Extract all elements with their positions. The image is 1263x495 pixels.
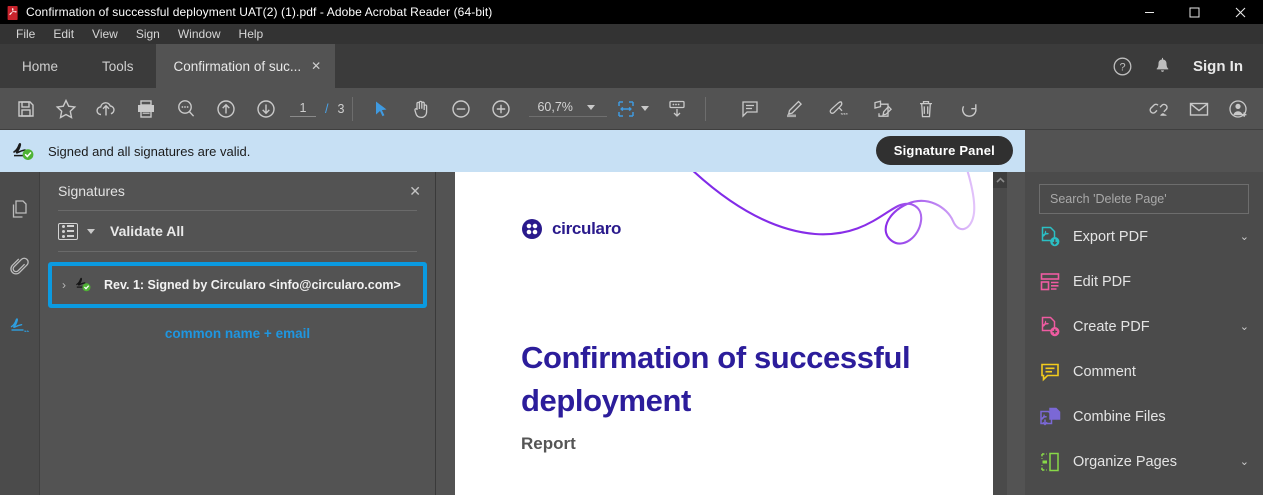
window-title: Confirmation of successful deployment UA… [26, 5, 492, 19]
tool-item-create-pdf[interactable]: Create PDF ⌄ [1039, 304, 1263, 349]
page-navigation: 1 / 3 [290, 101, 344, 117]
chevron-down-icon[interactable] [587, 105, 595, 110]
tool-item-edit-pdf[interactable]: Edit PDF [1039, 259, 1263, 304]
rotate-icon[interactable] [950, 88, 990, 130]
upload-cloud-icon[interactable] [86, 88, 126, 130]
signature-entry-row[interactable]: › Rev. 1: Signed by Circularo <info@circ… [48, 262, 427, 308]
tab-bar: Home Tools Confirmation of suc... ✕ ? Si… [0, 44, 1263, 88]
toolbar: 1 / 3 60,7% [0, 88, 1263, 130]
page-separator: / [325, 102, 328, 116]
close-button[interactable] [1217, 0, 1263, 24]
combine-files-icon [1039, 406, 1061, 428]
expand-chevron-icon[interactable]: › [62, 278, 66, 292]
pdf-page: circularo Confirmation of successful dep… [455, 172, 1002, 495]
chevron-down-icon[interactable]: ⌄ [1240, 320, 1249, 333]
close-icon[interactable]: ✕ [311, 60, 321, 72]
circularo-logo: circularo [521, 218, 621, 240]
tool-item-compress-pdf[interactable]: Compress PDF [1039, 484, 1263, 495]
signature-panel-button[interactable]: Signature Panel [876, 136, 1013, 165]
zoom-level-value: 60,7% [537, 100, 572, 114]
tool-item-comment[interactable]: Comment [1039, 349, 1263, 394]
menu-edit[interactable]: Edit [44, 24, 83, 44]
circularo-wordmark: circularo [552, 219, 621, 239]
chevron-down-icon[interactable]: ⌄ [1240, 455, 1249, 468]
print-icon[interactable] [126, 88, 166, 130]
chevron-down-icon[interactable] [87, 229, 95, 234]
email-icon[interactable] [1179, 88, 1219, 130]
zoom-out-icon[interactable] [441, 88, 481, 130]
title-bar: Confirmation of successful deployment UA… [0, 0, 1263, 24]
edit-pdf-icon [1039, 271, 1061, 293]
close-icon[interactable]: ✕ [409, 183, 421, 200]
tool-label: Combine Files [1073, 409, 1237, 425]
page-number-input[interactable]: 1 [290, 101, 316, 117]
tab-document-label: Confirmation of suc... [174, 59, 302, 74]
highlight-icon[interactable] [774, 88, 814, 130]
circularo-mark-icon [521, 218, 543, 240]
validate-all-label: Validate All [110, 223, 184, 239]
signature-entry-label: Rev. 1: Signed by Circularo <info@circul… [104, 278, 401, 292]
zoom-in-icon[interactable] [481, 88, 521, 130]
menu-bar: File Edit View Sign Window Help [0, 24, 1263, 44]
comment-icon [1039, 361, 1061, 383]
minimize-button[interactable] [1127, 0, 1172, 24]
banner-right-filler [1025, 130, 1263, 172]
trash-icon[interactable] [906, 88, 946, 130]
signatures-panel-header: Signatures ✕ [40, 172, 435, 210]
signature-entry-wrapper: › Rev. 1: Signed by Circularo <info@circ… [48, 262, 427, 308]
acrobat-reader-window: Confirmation of successful deployment UA… [0, 0, 1263, 495]
chevron-down-icon[interactable]: ⌄ [1240, 230, 1249, 243]
zoom-level-selector[interactable]: 60,7% [529, 100, 607, 117]
fit-page-chevron-icon[interactable] [641, 106, 649, 111]
divider-2 [58, 251, 417, 252]
tool-label: Export PDF [1073, 229, 1228, 245]
validate-all-row[interactable]: Validate All [40, 211, 435, 251]
tool-label: Comment [1073, 364, 1237, 380]
export-pdf-icon [1039, 226, 1061, 248]
document-subtitle: Report [521, 434, 576, 454]
add-person-icon[interactable] [1219, 88, 1259, 130]
tab-tools[interactable]: Tools [80, 44, 156, 88]
tool-label: Create PDF [1073, 319, 1228, 335]
tools-search-placeholder: Search 'Delete Page' [1050, 192, 1167, 206]
signature-status-banner: Signed and all signatures are valid. Sig… [0, 130, 1263, 172]
star-icon[interactable] [46, 88, 86, 130]
toolbar-divider [352, 97, 353, 121]
help-icon[interactable]: ? [1105, 49, 1139, 83]
main-area: Signatures ✕ Validate All [0, 172, 1263, 495]
list-view-icon[interactable] [58, 223, 78, 240]
menu-help[interactable]: Help [230, 24, 273, 44]
tool-item-export-pdf[interactable]: Export PDF ⌄ [1039, 214, 1263, 259]
toolbar-right-actions [1139, 88, 1259, 130]
next-page-icon[interactable] [246, 88, 286, 130]
toolbar-divider-2 [705, 97, 706, 121]
notifications-bell-icon[interactable] [1145, 49, 1179, 83]
tab-bar-actions: ? Sign In [1105, 44, 1255, 88]
tool-item-organize-pages[interactable]: Organize Pages ⌄ [1039, 439, 1263, 484]
document-title: Confirmation of successful deployment [521, 337, 941, 423]
signatures-panel-title: Signatures [58, 183, 125, 199]
tool-label: Organize Pages [1073, 454, 1228, 470]
sign-in-button[interactable]: Sign In [1185, 58, 1255, 75]
window-controls [1127, 0, 1263, 24]
page-thumbnails-icon[interactable] [3, 192, 37, 226]
menu-view[interactable]: View [83, 24, 127, 44]
fill-and-sign-icon[interactable] [862, 88, 902, 130]
menu-file[interactable]: File [7, 24, 44, 44]
tool-label: Edit PDF [1073, 274, 1237, 290]
signature-valid-icon [10, 137, 36, 166]
document-view: circularo Confirmation of successful dep… [436, 172, 1025, 495]
signature-status-text: Signed and all signatures are valid. [48, 144, 250, 159]
signature-valid-icon [74, 274, 96, 297]
save-icon[interactable] [6, 88, 46, 130]
find-icon[interactable] [166, 88, 206, 130]
menu-window[interactable]: Window [169, 24, 230, 44]
share-link-icon[interactable] [1139, 88, 1179, 130]
tab-document[interactable]: Confirmation of suc... ✕ [156, 44, 336, 88]
organize-pages-icon [1039, 451, 1061, 473]
tool-item-combine-files[interactable]: Combine Files [1039, 394, 1263, 439]
tools-panel: Search 'Delete Page' Export PDF ⌄ Edit P… [1025, 172, 1263, 495]
page-total: 3 [337, 102, 344, 116]
hand-icon[interactable] [401, 88, 441, 130]
scroll-mode-icon[interactable] [657, 88, 697, 130]
create-pdf-icon [1039, 316, 1061, 338]
select-cursor-icon[interactable] [361, 88, 401, 130]
maximize-button[interactable] [1172, 0, 1217, 24]
acrobat-app-icon [0, 5, 26, 20]
svg-text:?: ? [1119, 61, 1125, 73]
tools-search-input[interactable]: Search 'Delete Page' [1039, 184, 1249, 214]
attachments-icon[interactable] [3, 250, 37, 284]
signatures-icon[interactable] [3, 308, 37, 342]
scroll-up-icon[interactable] [993, 172, 1007, 188]
comment-icon[interactable] [730, 88, 770, 130]
tab-home[interactable]: Home [0, 44, 80, 88]
sign-icon[interactable] [818, 88, 858, 130]
vertical-scrollbar[interactable] [993, 172, 1007, 495]
left-navigation-rail [0, 172, 40, 495]
annotation-caption: common name + email [40, 326, 435, 341]
previous-page-icon[interactable] [206, 88, 246, 130]
signatures-panel: Signatures ✕ Validate All [40, 172, 436, 495]
menu-sign[interactable]: Sign [127, 24, 169, 44]
